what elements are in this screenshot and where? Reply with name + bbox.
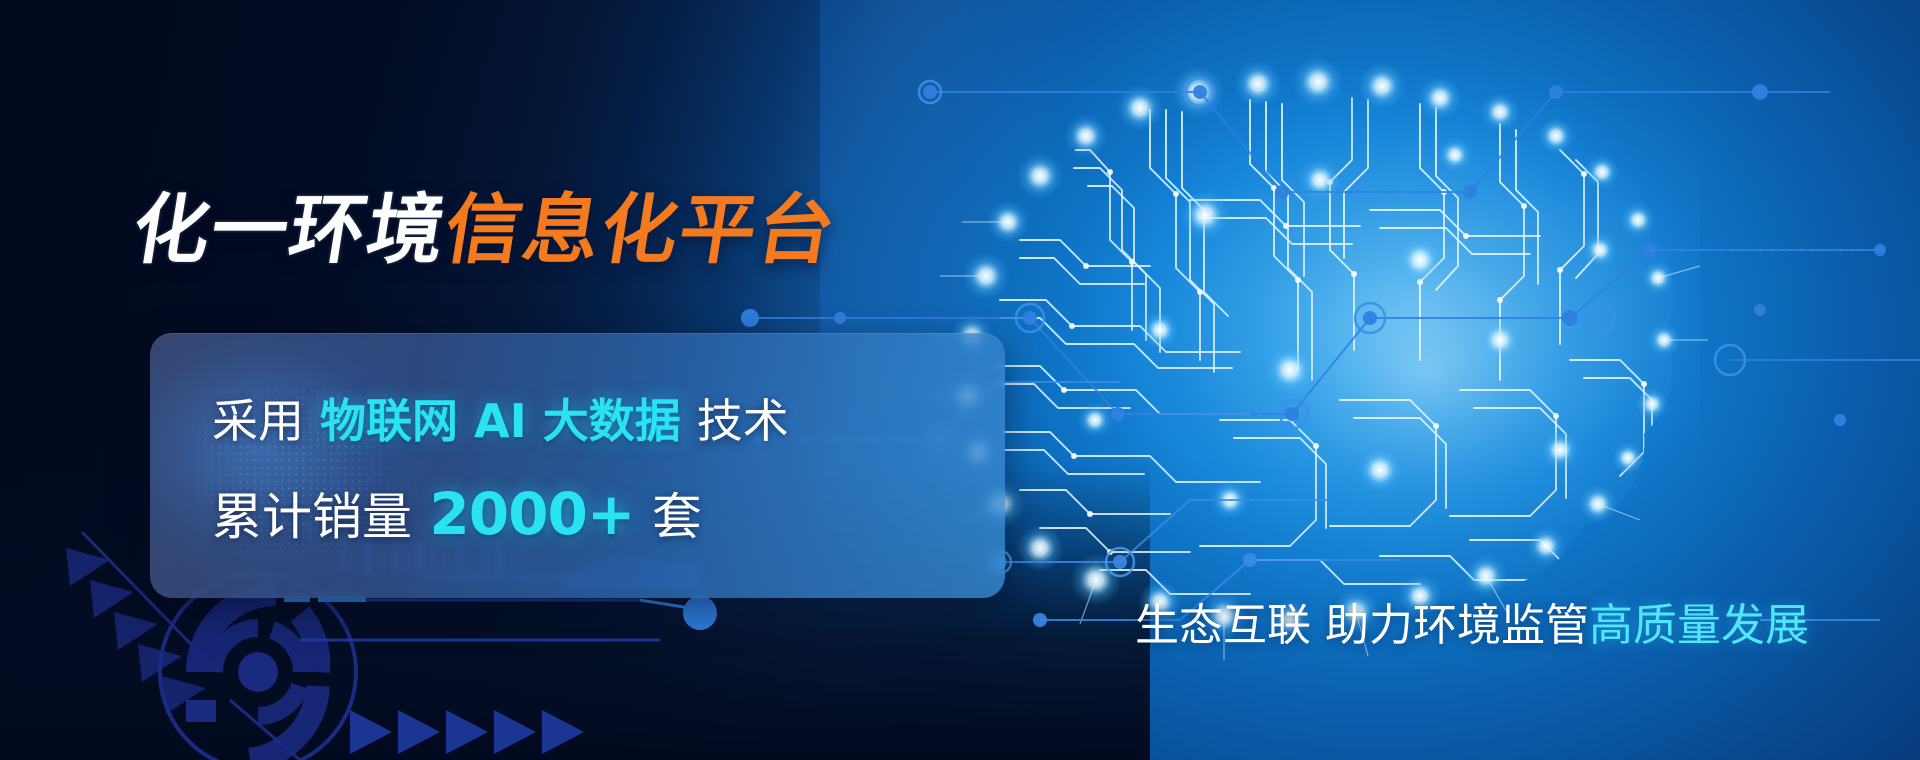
tech-line: 采用 物联网 AI 大数据 技术 <box>212 385 789 451</box>
tech-ai: AI <box>474 394 527 448</box>
sales-line: 累计销量 2000+ 套 <box>212 477 702 549</box>
tech-suffix: 技术 <box>697 394 789 448</box>
tagline-highlight: 高质量发展 <box>1589 600 1809 651</box>
arrow-row <box>350 710 584 754</box>
tagline: 生态互联 助力环境监管高质量发展 <box>1135 589 1809 653</box>
info-card: 采用 物联网 AI 大数据 技术 累计销量 2000+ 套 <box>150 333 1005 598</box>
title-white-part: 化一环境 <box>127 185 453 274</box>
tech-prefix: 采用 <box>212 394 304 448</box>
tech-bigdata: 大数据 <box>543 394 681 448</box>
sales-prefix: 累计销量 <box>212 488 412 546</box>
sales-suffix: 套 <box>652 488 702 546</box>
tech-iot: 物联网 <box>320 394 458 448</box>
accent-node <box>683 596 717 630</box>
tagline-plain: 生态互联 助力环境监管 <box>1135 600 1589 651</box>
page-title: 化一环境信息化平台 <box>126 168 845 278</box>
title-orange-part: 信息化平台 <box>439 185 843 274</box>
hero-banner: 化一环境信息化平台 采用 物联网 AI 大数据 技术 累计销量 2000+ 套 … <box>0 0 1920 760</box>
sales-number: 2000+ <box>429 480 634 548</box>
